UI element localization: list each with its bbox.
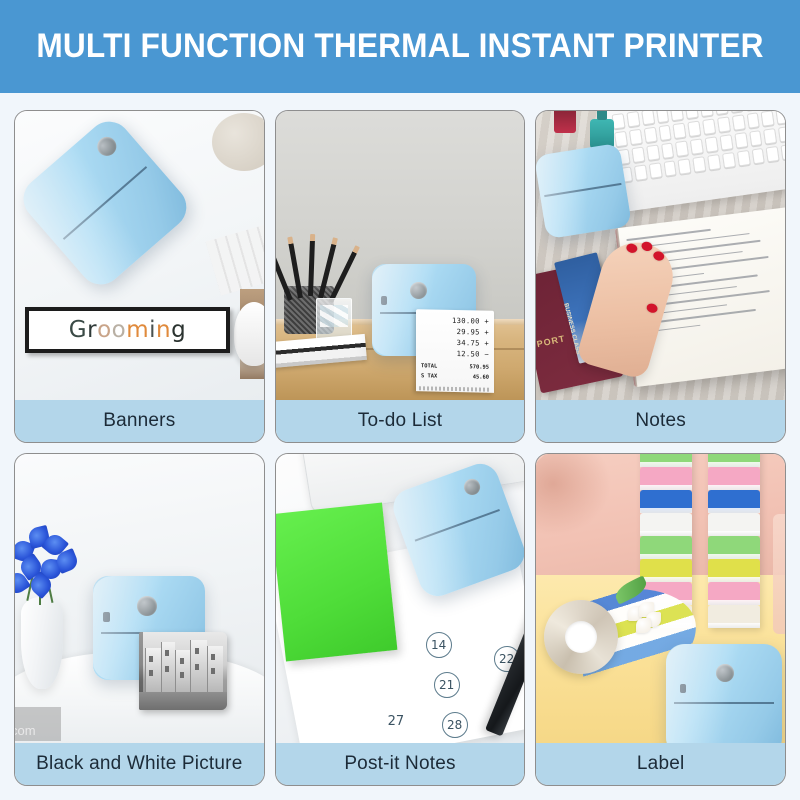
card-black-and-white-picture[interactable]: com Black and White Picture <box>14 453 265 786</box>
petal <box>636 618 651 633</box>
gloss-highlight <box>536 143 632 239</box>
card-label[interactable]: Label <box>535 453 786 786</box>
fingernail <box>626 242 639 254</box>
calendar-date-circled: 28 <box>442 712 468 738</box>
power-button-icon <box>93 133 120 160</box>
card-todo-list-image: 130.00 + 29.95 + 34.75 + 12.50 − TOTAL 5… <box>276 111 525 400</box>
receipt-tax-value: 45.60 <box>472 374 488 380</box>
receipt-total-value: 570.95 <box>469 364 488 370</box>
label-tape-roll <box>708 605 760 628</box>
passport-text: PORT <box>536 333 566 349</box>
label-tape-roll <box>640 513 692 536</box>
building <box>207 646 223 694</box>
receipt-torn-edge <box>419 386 491 392</box>
label-tape-roll <box>640 467 692 490</box>
card-black-and-white-picture-image: com <box>15 454 264 743</box>
label-tape-roll <box>708 513 760 536</box>
window <box>211 668 215 674</box>
label-tape-roll <box>708 536 760 559</box>
power-button-icon <box>461 477 482 498</box>
window <box>149 670 153 676</box>
label-tape-roll <box>708 490 760 513</box>
label-tape-roll-front <box>544 600 618 674</box>
usb-port-icon <box>381 296 387 305</box>
window <box>165 650 169 656</box>
card-label-caption: Label <box>536 743 785 785</box>
paper-slot <box>544 183 621 197</box>
calendar-date-circled: 21 <box>434 672 460 698</box>
post-it-note-green <box>276 503 397 662</box>
window <box>195 664 199 670</box>
receipt-footer: TOTAL 570.95 <box>421 363 489 370</box>
card-black-and-white-picture-caption: Black and White Picture <box>15 743 264 785</box>
paper-slot <box>414 509 499 542</box>
label-tape-roll <box>640 490 692 513</box>
nail-polish-bottle-red <box>554 111 576 133</box>
background-edge-object <box>773 514 785 634</box>
receipt-line: 12.50 − <box>421 348 489 361</box>
window <box>195 648 199 654</box>
window <box>180 658 184 664</box>
card-banners-caption: Banners <box>15 400 264 442</box>
card-notes-caption: Notes <box>536 400 785 442</box>
card-label-image <box>536 454 785 743</box>
receipt-tax-row: S TAX 45.60 <box>421 373 489 380</box>
usb-port-icon <box>103 612 110 622</box>
fingernail <box>646 302 659 314</box>
receipt-total-label: TOTAL <box>421 363 437 369</box>
gloss-highlight <box>666 644 782 743</box>
paper-slot <box>63 166 147 240</box>
printed-photo <box>139 632 227 710</box>
printed-banner-label: Grooming <box>25 307 230 353</box>
card-banners-image: Grooming <box>15 111 264 400</box>
printed-receipt: 130.00 + 29.95 + 34.75 + 12.50 − TOTAL 5… <box>416 309 494 393</box>
feature-card-grid: Grooming Banners <box>14 110 786 786</box>
label-tape-roll <box>708 454 760 467</box>
window <box>211 654 215 660</box>
building <box>145 648 161 694</box>
window <box>149 656 153 662</box>
label-tape-stack <box>708 454 760 628</box>
card-notes-image: PORT BUSINESS CLASS <box>536 111 785 400</box>
white-flower <box>628 604 662 636</box>
power-button-icon <box>137 596 157 616</box>
flower-vase <box>21 597 63 689</box>
card-todo-list-caption: To-do List <box>276 400 525 442</box>
label-tape-roll <box>708 582 760 605</box>
window <box>180 672 184 678</box>
receipt-tax-label: S TAX <box>421 373 437 379</box>
label-tape-roll <box>640 454 692 467</box>
street <box>139 692 227 710</box>
page-title: MULTI FUNCTION THERMAL INSTANT PRINTER <box>36 27 763 66</box>
card-todo-list[interactable]: 130.00 + 29.95 + 34.75 + 12.50 − TOTAL 5… <box>275 110 526 443</box>
watermark: com <box>15 707 61 741</box>
calendar-date-circled: 14 <box>426 632 452 658</box>
calendar-date: 27 <box>388 714 405 729</box>
label-tape-roll <box>708 467 760 490</box>
power-button-icon <box>410 282 427 299</box>
label-tape-roll <box>640 536 692 559</box>
card-banners[interactable]: Grooming Banners <box>14 110 265 443</box>
card-post-it-notes-image: 14 21 28 22 24 31 27 <box>276 454 525 743</box>
window <box>165 666 169 672</box>
thermal-printer-device <box>536 143 632 239</box>
thermal-printer-device <box>666 644 782 743</box>
product-infographic: MULTI FUNCTION THERMAL INSTANT PRINTER G… <box>0 0 800 800</box>
banner-label-text: Grooming <box>69 317 186 343</box>
card-notes[interactable]: PORT BUSINESS CLASS <box>535 110 786 443</box>
power-button-icon <box>716 664 734 682</box>
card-post-it-notes[interactable]: 14 21 28 22 24 31 27 Post-it Notes <box>275 453 526 786</box>
paper-slot <box>674 702 774 704</box>
mouse-partial <box>234 302 264 366</box>
label-tape-roll <box>708 559 760 582</box>
label-tape-roll <box>640 559 692 582</box>
usb-port-icon <box>680 684 686 693</box>
card-post-it-notes-caption: Post-it Notes <box>276 743 525 785</box>
header-banner: MULTI FUNCTION THERMAL INSTANT PRINTER <box>0 0 800 93</box>
